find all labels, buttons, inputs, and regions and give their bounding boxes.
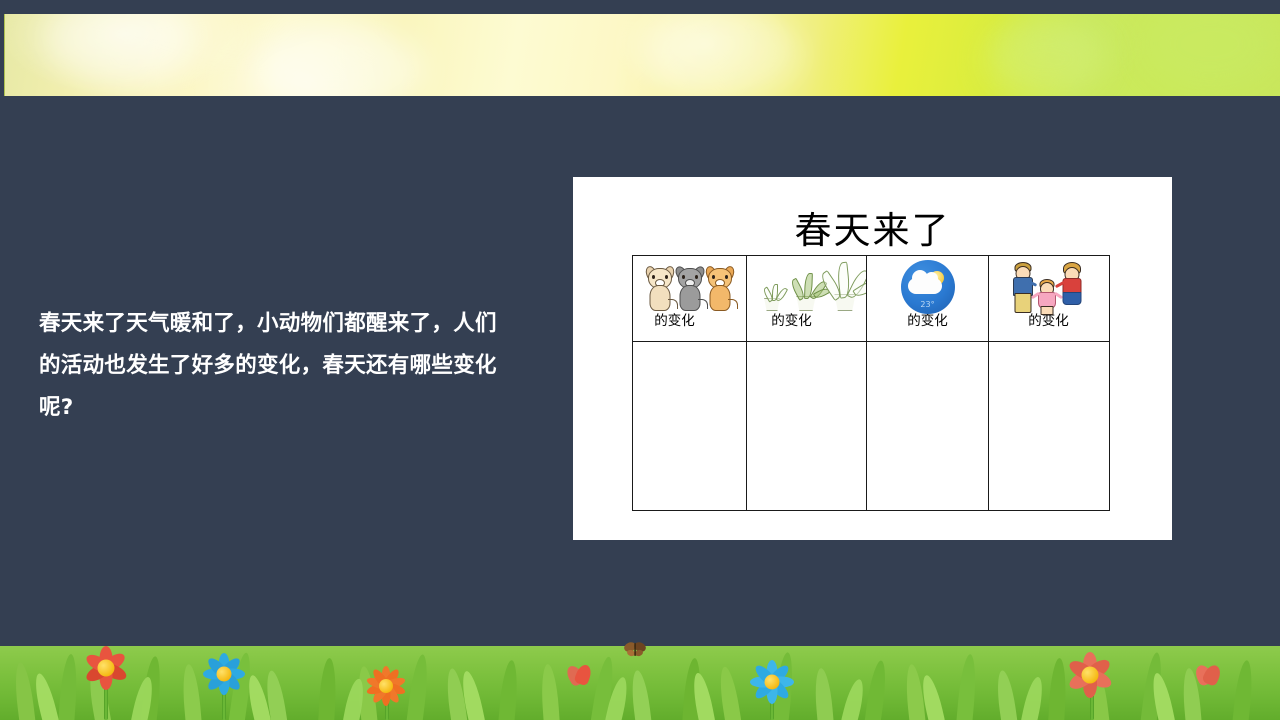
weather-cloud-sun-icon: 23° (867, 258, 988, 314)
grass-blade (629, 669, 652, 720)
table-cell-label: 的变化 (867, 314, 988, 329)
grass-blade (717, 665, 742, 720)
presentation-slide: 春天来了天气暖和了，小动物们都醒来了，人们的活动也发生了好多的变化，春天还有哪些… (0, 0, 1280, 720)
wolf-figure (677, 268, 703, 312)
blank-cell-plants[interactable] (747, 342, 867, 510)
family-of-three-icon (989, 258, 1108, 314)
grass-blade (540, 664, 560, 720)
slide-body-paragraph: 春天来了天气暖和了，小动物们都醒来了，人们的活动也发生了好多的变化，春天还有哪些… (39, 303, 517, 429)
table-cell-label: 的变化 (633, 314, 747, 329)
grass-blade (956, 654, 978, 720)
tiger-figure (707, 268, 733, 312)
red-flower (1062, 652, 1118, 698)
grass-blade (498, 660, 520, 720)
changes-table: 的变化 (632, 255, 1110, 511)
top-gradient-banner (4, 14, 1280, 96)
father-figure (1010, 263, 1036, 313)
grass-blade (864, 660, 889, 720)
table-cell-animals[interactable]: 的变化 (633, 256, 747, 341)
orange-flower (360, 664, 412, 708)
blue-flower (746, 660, 798, 704)
grass-blade (318, 658, 338, 720)
grass-blade (813, 668, 834, 720)
grass-blade (58, 654, 79, 720)
plant-medium (789, 267, 823, 311)
banner-highlight-blob (255, 24, 425, 96)
butterfly-icon (622, 640, 648, 658)
blank-cell-weather[interactable] (867, 342, 989, 510)
mother-figure (1059, 263, 1085, 313)
blank-cell-animals[interactable] (633, 342, 747, 510)
grass-blade-front (31, 672, 60, 720)
grass-blade (1232, 660, 1255, 720)
three-cartoon-animals-icon (633, 258, 746, 314)
blank-cell-family[interactable] (989, 342, 1108, 510)
grass-blade (994, 669, 1018, 720)
table-header-row: 的变化 (633, 256, 1109, 341)
dog-figure (647, 268, 673, 312)
table-cell-weather[interactable]: 23° 的变化 (867, 256, 989, 341)
blue-flower (198, 652, 250, 696)
banner-highlight-blob (985, 19, 1105, 96)
cloud-icon (908, 278, 942, 294)
table-blank-row (633, 341, 1109, 510)
plant-large (825, 257, 865, 311)
weather-circle: 23° (901, 260, 955, 314)
grass-blade-front (840, 677, 867, 720)
banner-highlight-blob (1145, 14, 1275, 89)
growing-potted-plants-icon (747, 258, 866, 314)
temperature-label: 23° (901, 300, 955, 309)
plant-small (759, 281, 785, 311)
red-flower (560, 666, 600, 702)
table-cell-label: 的变化 (989, 314, 1108, 329)
table-cell-plants[interactable]: 的变化 (747, 256, 867, 341)
grass-blade-front (1020, 675, 1046, 720)
banner-highlight-blob (645, 14, 805, 96)
grass-blade (12, 662, 36, 720)
red-flower (82, 648, 130, 688)
red-flower (1188, 666, 1228, 702)
banner-highlight-blob (45, 14, 195, 84)
table-cell-label: 的变化 (747, 314, 867, 329)
white-content-card: 春天来了 (573, 177, 1172, 540)
card-title: 春天来了 (573, 200, 1172, 254)
table-cell-family[interactable]: 的变化 (989, 256, 1108, 341)
